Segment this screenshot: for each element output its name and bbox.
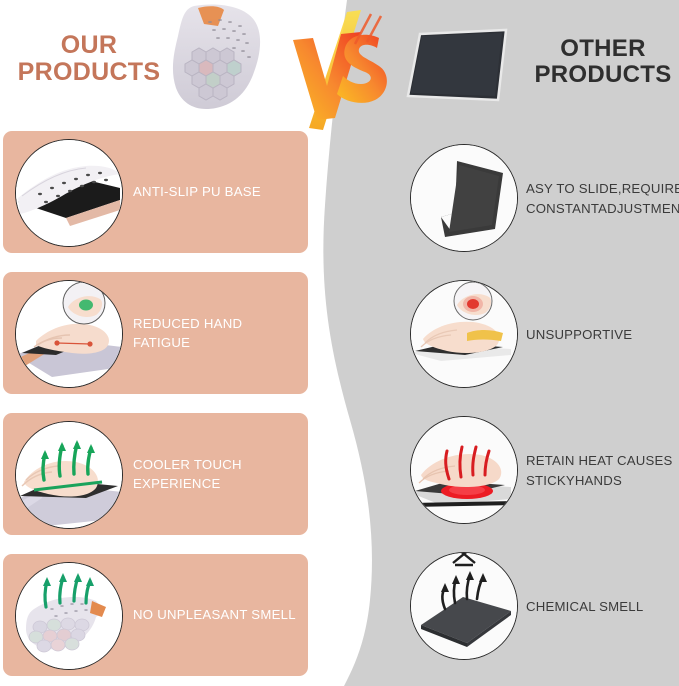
left-feature-label: COOLER TOUCH EXPERIENCE — [133, 413, 300, 535]
comparison-infographic: OUR PRODUCTS OTHER PRODUCTS — [0, 0, 679, 686]
plain-black-mouse-pad-hero — [402, 26, 514, 106]
mouse-pad-peeled-corner-icon — [15, 139, 123, 247]
other-products-heading-line2: PRODUCTS — [532, 62, 674, 88]
left-feature-label: ANTI-SLIP PU BASE — [133, 131, 300, 253]
right-feature-label-line1: ASY TO SLIDE,REQUIRES — [526, 181, 679, 196]
right-feature-label: UNSUPPORTIVE — [526, 274, 679, 396]
left-feature-label-line2: FATIGUE — [133, 335, 190, 350]
cool-airflow-arrows-icon — [15, 421, 123, 529]
left-feature-label-line1: REDUCED HAND — [133, 316, 242, 331]
right-feature-label-line2: CONSTANTADJUSTMENTS — [526, 201, 679, 216]
left-feature-label-line2: EXPERIENCE — [133, 476, 221, 491]
left-feature-anti-slip-pu-base[interactable]: ANTI-SLIP PU BASE — [3, 131, 308, 253]
hand-pain-spot-icon — [410, 280, 518, 388]
right-feature-chemical-smell[interactable]: CHEMICAL SMELL — [398, 546, 679, 668]
right-feature-label-line2: STICKYHANDS — [526, 473, 622, 488]
right-feature-label: RETAIN HEAT CAUSES STICKYHANDS — [526, 410, 679, 532]
left-feature-no-unpleasant-smell[interactable]: NO UNPLEASANT SMELL — [3, 554, 308, 676]
right-feature-easy-to-slide[interactable]: ASY TO SLIDE,REQUIRES CONSTANTADJUSTMENT… — [398, 138, 679, 260]
right-feature-label: ASY TO SLIDE,REQUIRES CONSTANTADJUSTMENT… — [526, 138, 679, 260]
honeycomb-pad-airflow-icon — [15, 562, 123, 670]
left-feature-label-line1: COOLER TOUCH — [133, 457, 242, 472]
our-products-heading: OUR PRODUCTS — [14, 32, 164, 86]
hand-on-wrist-rest-icon — [15, 280, 123, 388]
right-feature-retain-heat-sticky-hands[interactable]: RETAIN HEAT CAUSES STICKYHANDS — [398, 410, 679, 532]
ergonomic-mouse-pad-hero — [148, 0, 278, 118]
our-products-heading-line2: PRODUCTS — [14, 59, 164, 86]
sliding-black-pad-icon — [410, 144, 518, 252]
left-feature-label: NO UNPLEASANT SMELL — [133, 554, 300, 676]
hot-hand-red-heat-icon — [410, 416, 518, 524]
left-feature-reduced-hand-fatigue[interactable]: REDUCED HAND FATIGUE — [3, 272, 308, 394]
right-feature-label: CHEMICAL SMELL — [526, 546, 679, 668]
left-feature-cooler-touch-experience[interactable]: COOLER TOUCH EXPERIENCE — [3, 413, 308, 535]
right-feature-label-line1: RETAIN HEAT CAUSES — [526, 453, 673, 468]
other-products-heading-line1: OTHER — [532, 36, 674, 62]
other-products-heading: OTHER PRODUCTS — [532, 36, 674, 88]
our-products-heading-line1: OUR — [14, 32, 164, 59]
right-feature-unsupportive[interactable]: UNSUPPORTIVE — [398, 274, 679, 396]
left-feature-label: REDUCED HAND FATIGUE — [133, 272, 300, 394]
chemical-smell-flask-icon — [410, 552, 518, 660]
